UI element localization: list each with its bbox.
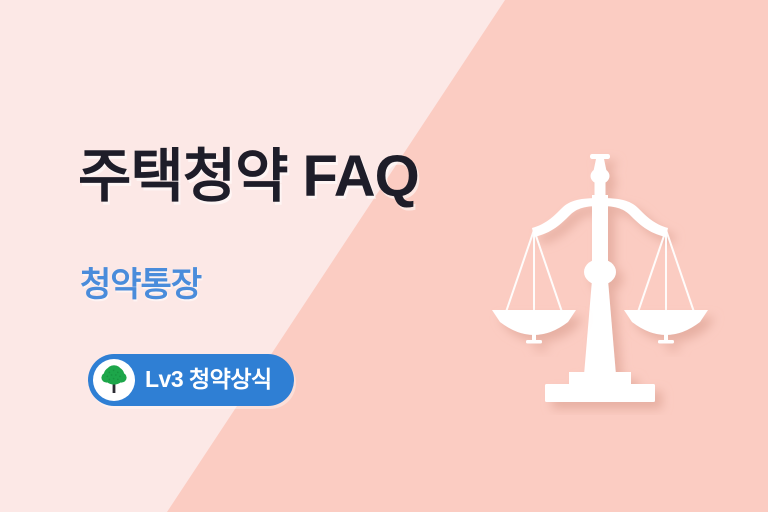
- level-badge[interactable]: Lv3 청약상식: [88, 354, 294, 406]
- page-title: 주택청약 FAQ: [78, 148, 419, 206]
- tree-icon: [93, 359, 135, 401]
- level-badge-label: Lv3 청약상식: [145, 368, 272, 393]
- balance-scales-icon: [465, 140, 735, 415]
- page-subtitle: 청약통장: [80, 268, 201, 302]
- faq-banner-card: 주택청약 FAQ 청약통장: [0, 0, 768, 512]
